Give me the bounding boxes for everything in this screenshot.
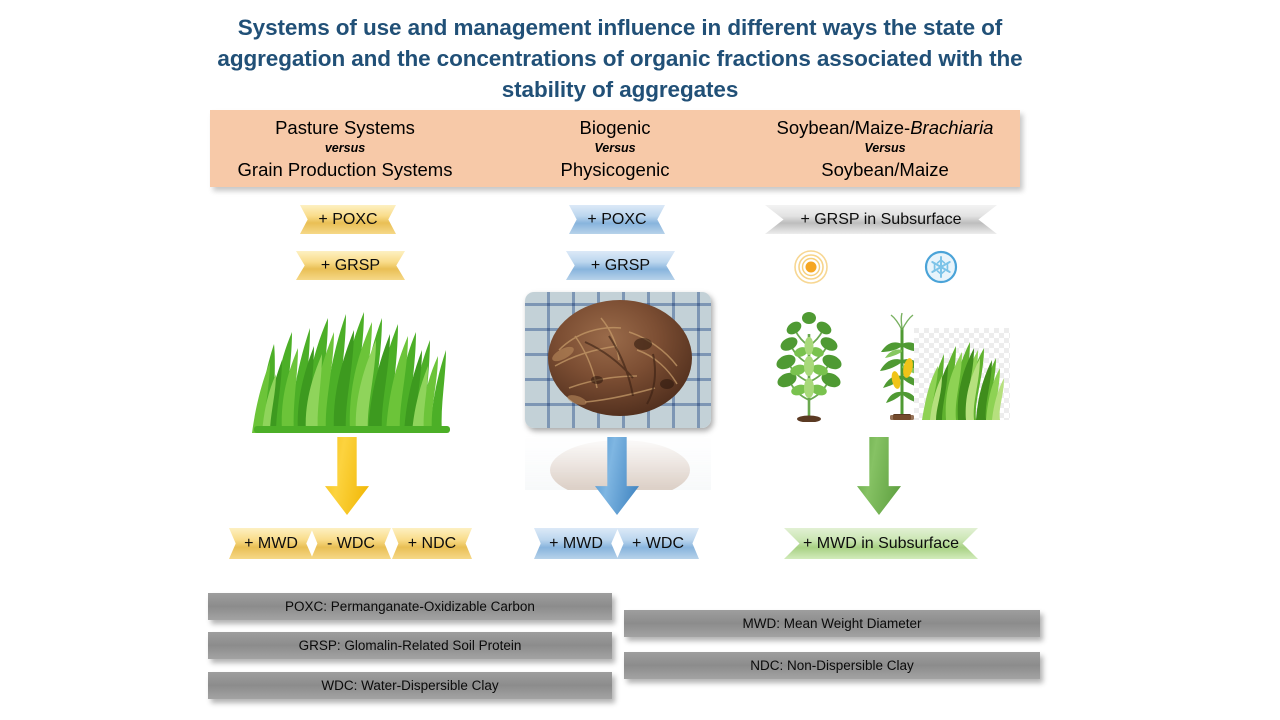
header-versus-label: Versus <box>864 139 905 158</box>
legend-poxc: POXC: Permanganate-Oxidizable Carbon <box>208 593 612 620</box>
soybean-plant-illustration <box>772 300 846 422</box>
brachiaria-grass-illustration <box>914 328 1010 420</box>
page-title: Systems of use and management influence … <box>195 12 1045 105</box>
badge-wdc-biogenic: + WDC <box>617 528 699 559</box>
badge-mwd-subsurface: + MWD in Subsurface <box>784 528 978 559</box>
legend-mwd: MWD: Mean Weight Diameter <box>624 610 1040 637</box>
soil-aggregate-shape <box>525 292 711 428</box>
legend-ndc: NDC: Non-Dispersible Clay <box>624 652 1040 679</box>
arrow-down-pasture <box>325 437 369 515</box>
comparison-header-band: Pasture Systems versus Grain Production … <box>210 110 1020 187</box>
header-column-biogenic: Biogenic Versus Physicogenic <box>480 110 750 187</box>
arrow-down-soybean-maize <box>857 437 901 515</box>
header-versus-label: Versus <box>594 139 635 158</box>
header-bottom-label: Physicogenic <box>560 158 669 181</box>
badge-wdc-pasture: - WDC <box>311 528 391 559</box>
badge-grsp-pasture: + GRSP <box>296 251 405 280</box>
header-column-pasture: Pasture Systems versus Grain Production … <box>210 110 480 187</box>
badge-poxc-pasture: + POXC <box>300 205 396 234</box>
header-column-soybean-maize: Soybean/Maize-Brachiaria Versus Soybean/… <box>750 110 1020 187</box>
grass-clipart <box>248 288 458 433</box>
badge-mwd-biogenic: + MWD <box>534 528 618 559</box>
header-top-label: Biogenic <box>580 116 651 139</box>
header-versus-label: versus <box>325 139 365 158</box>
badge-grsp-biogenic: + GRSP <box>566 251 675 280</box>
soil-aggregate-photo <box>525 292 711 428</box>
header-bottom-label: Soybean/Maize <box>821 158 949 181</box>
header-top-label: Soybean/Maize-Brachiaria <box>777 116 994 139</box>
header-top-text: Soybean/Maize- <box>777 117 911 138</box>
badge-ndc-pasture: + NDC <box>392 528 472 559</box>
snowflake-icon <box>924 250 958 284</box>
legend-grsp: GRSP: Glomalin-Related Soil Protein <box>208 632 612 659</box>
species-name-brachiaria: Brachiaria <box>910 117 993 138</box>
legend-wdc: WDC: Water-Dispersible Clay <box>208 672 612 699</box>
header-top-label: Pasture Systems <box>275 116 415 139</box>
sun-icon <box>794 250 828 284</box>
header-bottom-label: Grain Production Systems <box>238 158 453 181</box>
badge-grsp-subsurface: + GRSP in Subsurface <box>765 205 997 234</box>
graphical-abstract: Systems of use and management influence … <box>0 0 1280 720</box>
badge-poxc-biogenic: + POXC <box>569 205 665 234</box>
badge-mwd-pasture: + MWD <box>229 528 313 559</box>
